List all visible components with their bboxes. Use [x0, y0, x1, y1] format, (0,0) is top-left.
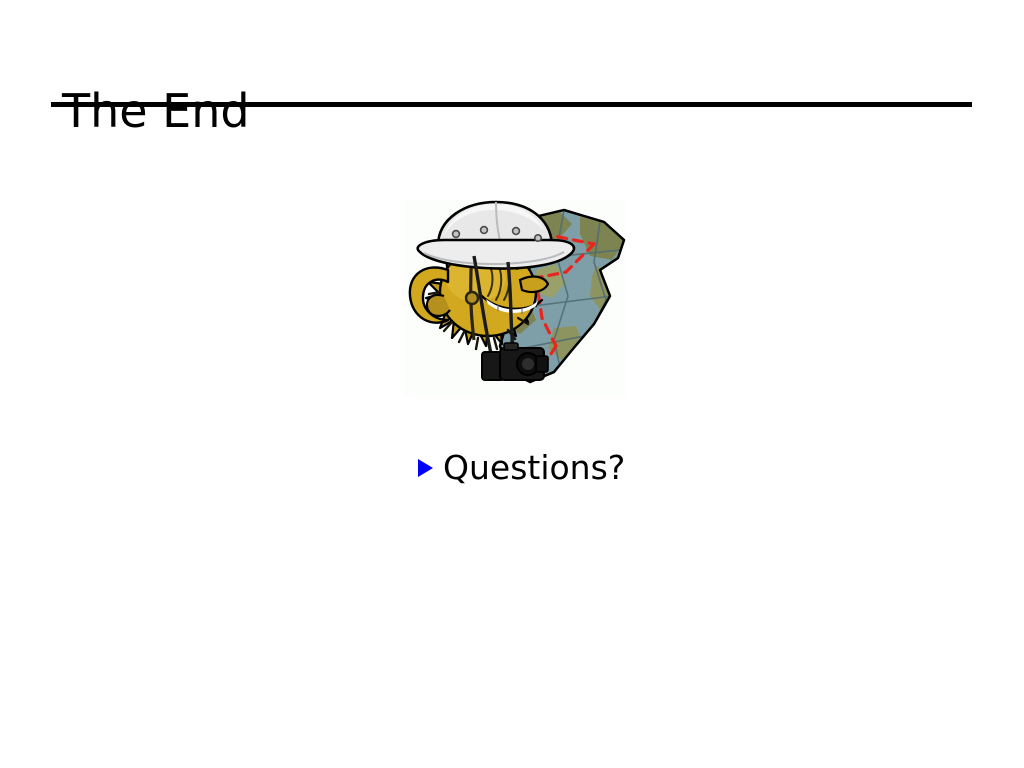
page-title: The End	[62, 86, 250, 136]
list-item: Questions?	[418, 448, 625, 488]
triangle-right-icon	[418, 459, 433, 477]
title-divider	[51, 102, 972, 107]
slide: The End	[0, 0, 1024, 768]
bullet-label: Questions?	[443, 448, 625, 488]
mascot-image	[404, 200, 626, 396]
puffy-tourist-icon	[404, 200, 626, 396]
